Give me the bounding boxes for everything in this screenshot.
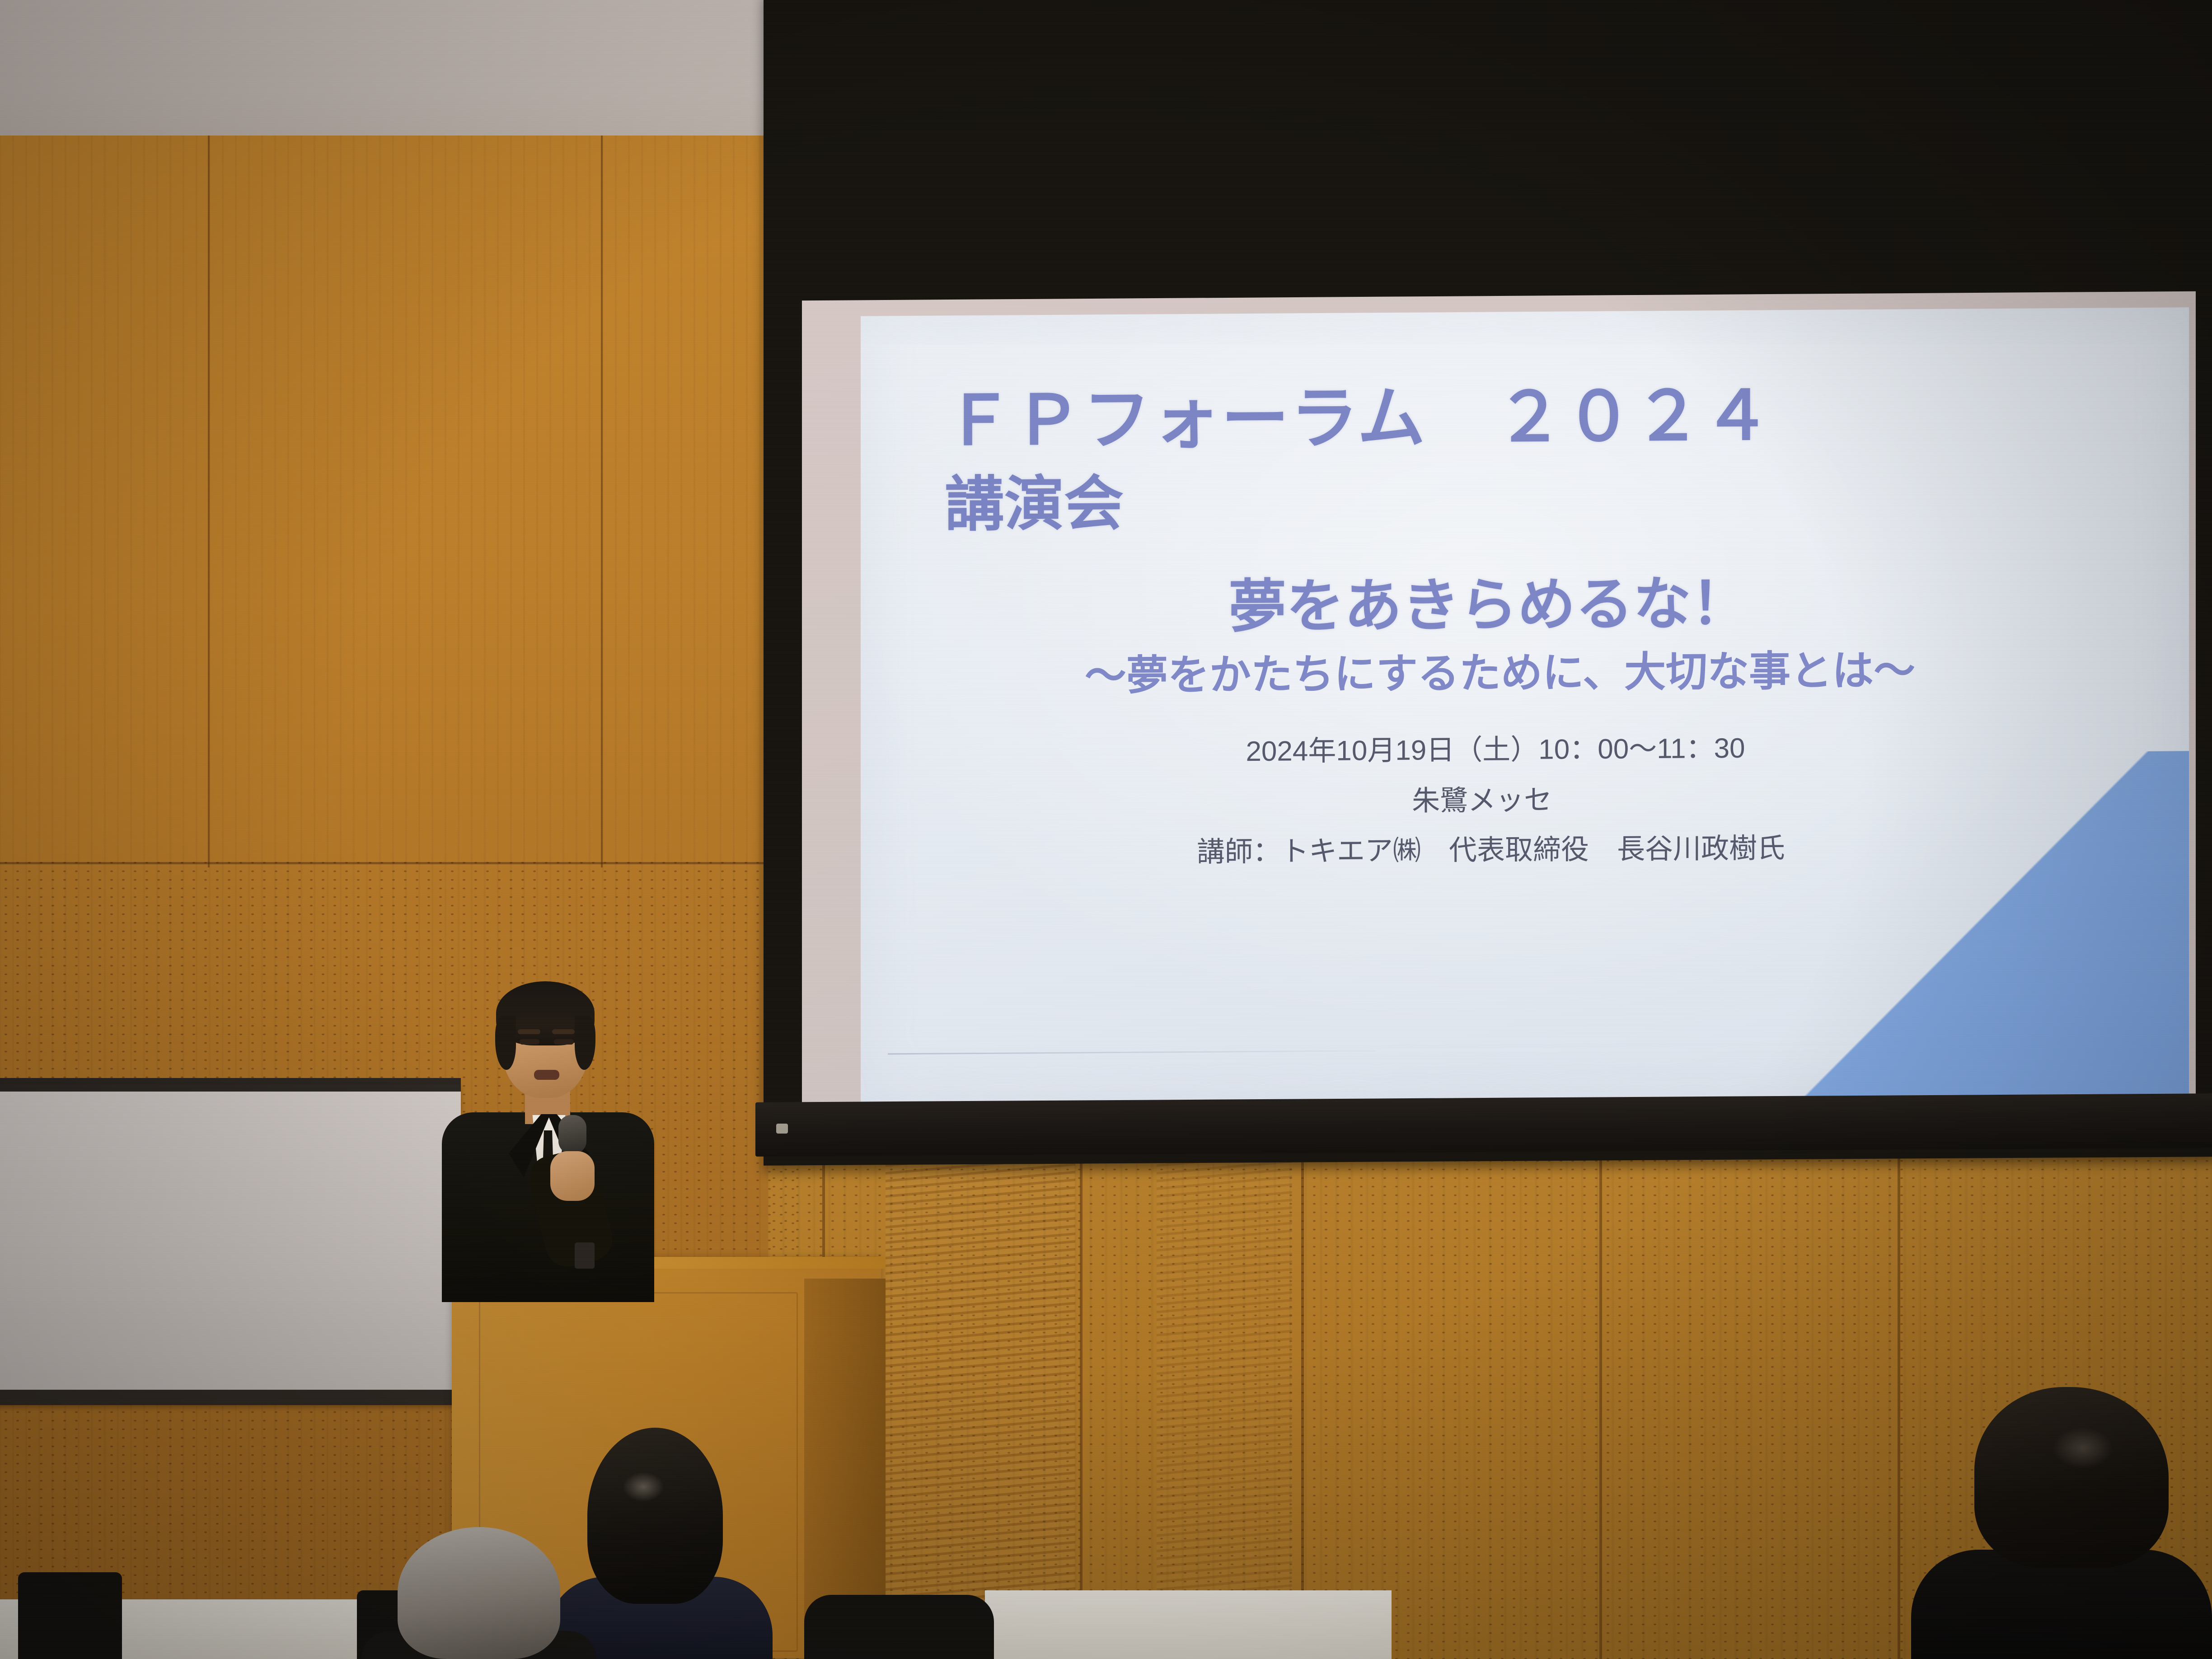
slide-title-line1: ＦＰフォーラム ２０２４ bbox=[945, 361, 1772, 464]
projection-screen-bottom-bar bbox=[755, 1093, 2212, 1157]
presenter-hair-left bbox=[495, 1016, 516, 1070]
presenter-eye-right bbox=[554, 1039, 574, 1045]
slide-date: 2024年10月19日（土）10：00〜11：30 bbox=[861, 722, 2130, 772]
presenter-eye-left bbox=[520, 1039, 539, 1045]
wall-seam bbox=[1301, 1157, 1304, 1659]
wall-seam bbox=[1599, 1157, 1602, 1659]
wall-seam bbox=[0, 862, 795, 864]
screen-pull-knob bbox=[776, 1124, 788, 1134]
louvre-panel bbox=[886, 1157, 1075, 1659]
whiteboard bbox=[0, 1084, 461, 1405]
slide-venue: 朱鷺メッセ bbox=[861, 773, 2103, 822]
slide-headline: 夢をあきらめるな！ bbox=[861, 554, 2117, 646]
slide-speaker: 講師：トキエア㈱ 代表取締役 長谷川政樹氏 bbox=[861, 823, 2121, 872]
wall-seam bbox=[1080, 1157, 1083, 1659]
audience-right-hair-highlight bbox=[2053, 1428, 2112, 1468]
audience-gray-hair-head bbox=[398, 1527, 560, 1659]
audience-right-head bbox=[1974, 1387, 2169, 1568]
wall-seam bbox=[208, 136, 210, 867]
slide-title-line2: 講演会 bbox=[945, 455, 1124, 543]
slide-divider-line bbox=[888, 1050, 1376, 1054]
wall-seam bbox=[601, 136, 603, 867]
presenter-badge bbox=[575, 1242, 595, 1269]
chair-slats bbox=[813, 1607, 985, 1659]
presentation-slide: ＦＰフォーラム ２０２４ 講演会 夢をあきらめるな！ 〜夢をかたちにするために、… bbox=[861, 307, 2189, 1102]
presenter-mouth bbox=[534, 1070, 559, 1080]
presenter bbox=[429, 971, 682, 1297]
upper-wall bbox=[0, 0, 795, 149]
front-table bbox=[985, 1590, 1392, 1659]
louvre-panel bbox=[1157, 1157, 1292, 1659]
audience-black-hair-head bbox=[587, 1428, 723, 1604]
presenter-eyebrow-left bbox=[518, 1029, 540, 1034]
presenter-eyebrow-right bbox=[552, 1029, 575, 1034]
microphone-head bbox=[558, 1115, 586, 1154]
slide-tagline: 〜夢をかたちにするために、大切な事とは〜 bbox=[861, 635, 2139, 704]
audience-hair-highlight bbox=[623, 1472, 664, 1502]
wall-seam bbox=[1898, 1157, 1900, 1659]
presenter-hair-right bbox=[575, 1016, 595, 1070]
lecture-hall-photo: ＦＰフォーラム ２０２４ 講演会 夢をあきらめるな！ 〜夢をかたちにするために、… bbox=[0, 0, 2212, 1659]
chair-slats bbox=[25, 1581, 116, 1659]
presenter-hand bbox=[550, 1151, 595, 1201]
